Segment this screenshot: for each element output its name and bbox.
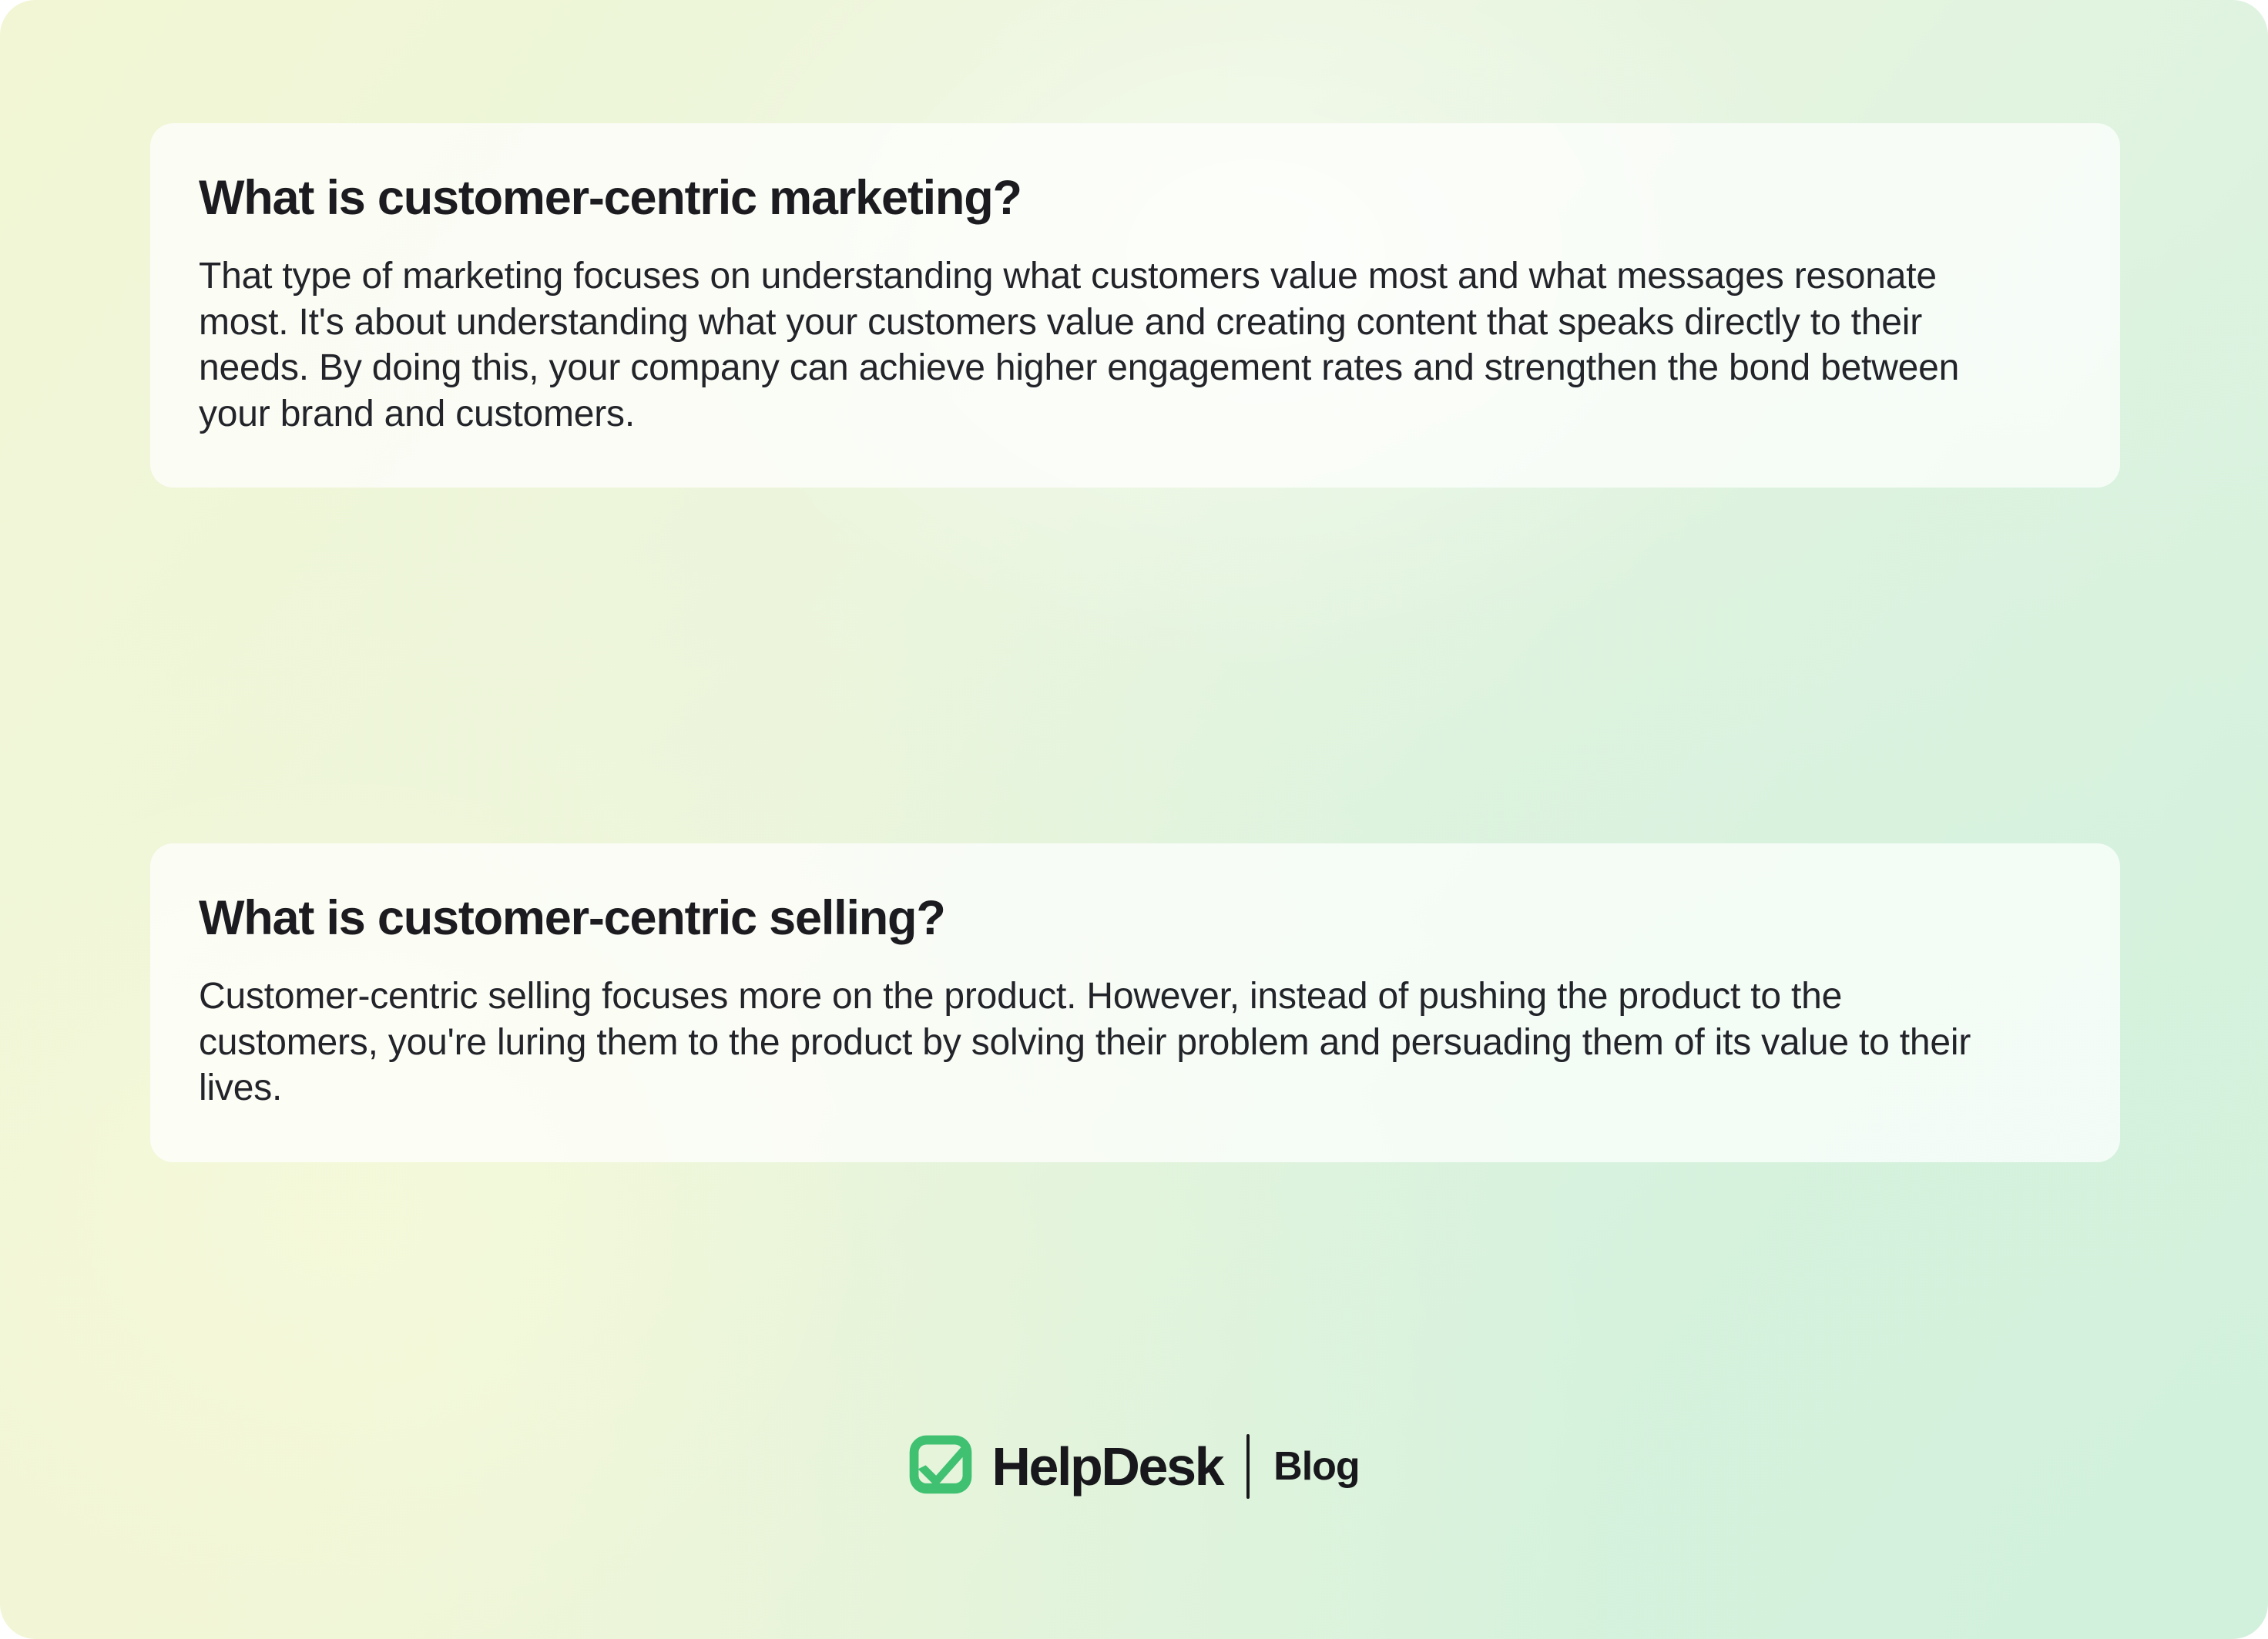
footer-section-label[interactable]: Blog [1273,1446,1360,1486]
card-body-text: That type of marketing focuses on unders… [199,253,1994,437]
faq-card: What is customer-centric marketing? That… [150,123,2120,488]
page-content: What is customer-centric marketing? That… [0,0,2268,1639]
faq-card: What is customer-centric selling? Custom… [150,843,2120,1162]
card-title: What is customer-centric selling? [199,890,2072,947]
footer-divider [1246,1434,1250,1499]
helpdesk-checkmark-icon [908,1434,973,1499]
card-body-text: Customer-centric selling focuses more on… [199,974,1994,1111]
card-title: What is customer-centric marketing? [199,169,2072,226]
footer-brand-lockup: HelpDesk Blog [0,1434,2268,1499]
brand-name-label: HelpDesk [991,1440,1223,1493]
page-canvas: What is customer-centric marketing? That… [0,0,2268,1639]
helpdesk-brand[interactable]: HelpDesk [908,1434,1223,1499]
